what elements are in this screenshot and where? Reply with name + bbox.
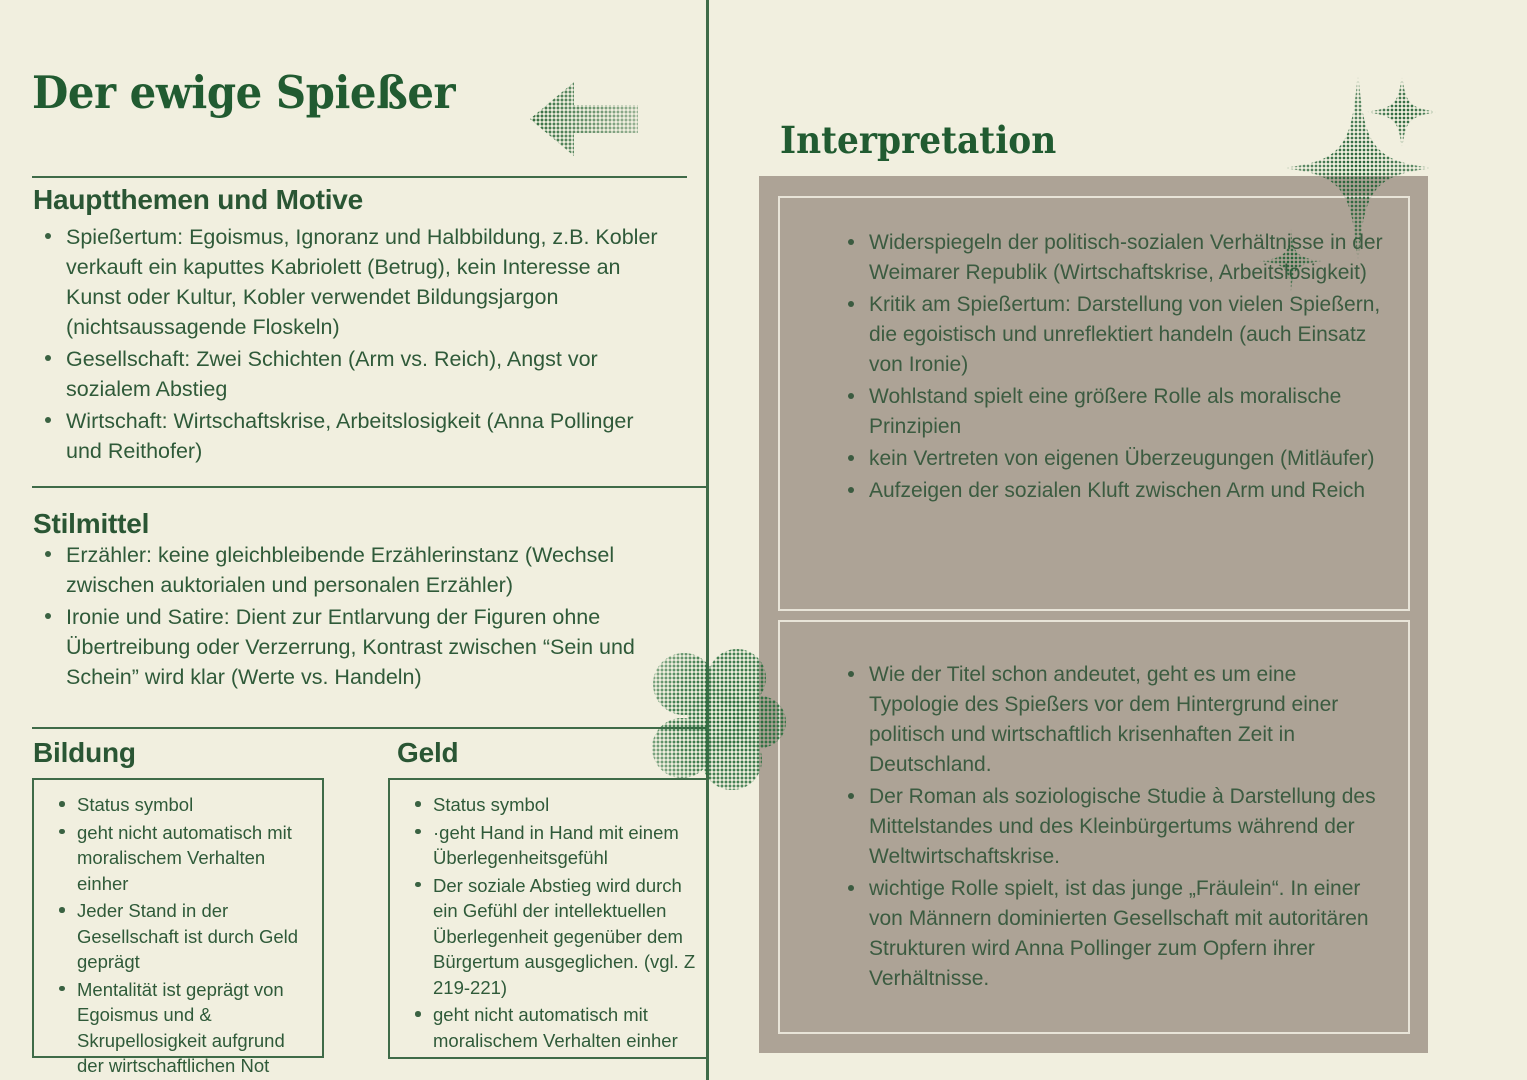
list-item: geht nicht automatisch mit moralischem V… (402, 1002, 700, 1053)
list-item-text: Wohlstand spielt eine größere Rolle als … (869, 385, 1341, 438)
list-item-text: Wie der Titel schon andeutet, geht es um… (869, 663, 1338, 776)
divider-bottom (32, 727, 708, 729)
list-item-text: Widerspiegeln der politisch-sozialen Ver… (869, 231, 1383, 284)
bildung-list: Status symbol geht nicht automatisch mit… (46, 792, 316, 1080)
list-item: Aufzeigen der sozialen Kluft zwischen Ar… (838, 476, 1386, 506)
list-item-text: Ironie und Satire: Dient zur Entlarvung … (66, 605, 635, 689)
interpretation-box-1: Widerspiegeln der politisch-sozialen Ver… (778, 196, 1410, 611)
left-column: Der ewige Spießer Hauptthemen und Motive… (0, 0, 709, 1080)
list-item-text: wichtige Rolle spielt, ist das junge „Fr… (869, 877, 1369, 990)
list-item: Spießertum: Egoismus, Ignoranz und Halbb… (33, 222, 663, 342)
list-item-text: Status symbol (77, 794, 193, 815)
list-item: Kritik am Spießertum: Darstellung von vi… (838, 290, 1386, 380)
list-item-text: Wirtschaft: Wirtschaftskrise, Arbeitslos… (66, 409, 634, 463)
list-item-text: Der soziale Abstieg wird durch ein Gefüh… (433, 875, 695, 998)
list-item-text: kein Vertreten von eigenen Überzeugungen… (869, 447, 1374, 470)
list-item-text: Kritik am Spießertum: Darstellung von vi… (869, 293, 1380, 376)
divider-top (32, 176, 687, 178)
page-title: Der ewige Spießer (32, 66, 455, 119)
list-item-text: Jeder Stand in der Gesellschaft ist durc… (77, 900, 298, 972)
list-item-text: Aufzeigen der sozialen Kluft zwischen Ar… (869, 479, 1365, 502)
list-item: Status symbol (46, 792, 316, 818)
list-item-text: Erzähler: keine gleichbleibende Erzähler… (66, 543, 614, 597)
list-item-text: Der Roman als soziologische Studie à Dar… (869, 785, 1376, 868)
interpretation-list-1: Widerspiegeln der politisch-sozialen Ver… (838, 228, 1386, 508)
list-item: Mentalität ist geprägt von Egoismus und … (46, 977, 316, 1079)
list-item: wichtige Rolle spielt, ist das junge „Fr… (838, 874, 1386, 994)
geld-box: Status symbol ·geht Hand in Hand mit ein… (388, 778, 708, 1059)
geld-list: Status symbol ·geht Hand in Hand mit ein… (402, 792, 700, 1055)
list-item: Der soziale Abstieg wird durch ein Gefüh… (402, 873, 700, 1001)
list-item: Status symbol (402, 792, 700, 818)
interpretation-box-2: Wie der Titel schon andeutet, geht es um… (778, 620, 1410, 1034)
list-item-text: Spießertum: Egoismus, Ignoranz und Halbb… (66, 225, 658, 339)
section-heading-hauptthemen: Hauptthemen und Motive (33, 184, 363, 216)
hauptthemen-list: Spießertum: Egoismus, Ignoranz und Halbb… (33, 222, 663, 468)
list-item-text: Gesellschaft: Zwei Schichten (Arm vs. Re… (66, 347, 598, 401)
list-item: Wie der Titel schon andeutet, geht es um… (838, 660, 1386, 780)
list-item-text: geht nicht automatisch mit moralischem V… (433, 1004, 678, 1051)
list-item-text: Status symbol (433, 794, 549, 815)
list-item: Wirtschaft: Wirtschaftskrise, Arbeitslos… (33, 406, 663, 466)
bildung-box: Status symbol geht nicht automatisch mit… (32, 778, 324, 1058)
stilmittel-list: Erzähler: keine gleichbleibende Erzähler… (33, 540, 673, 694)
list-item: Ironie und Satire: Dient zur Entlarvung … (33, 602, 673, 692)
section-heading-stilmittel: Stilmittel (33, 508, 149, 540)
divider-middle (32, 486, 708, 488)
section-heading-bildung: Bildung (33, 737, 136, 769)
list-item-text: Mentalität ist geprägt von Egoismus und … (77, 979, 285, 1077)
poster-page: Der ewige Spießer Hauptthemen und Motive… (0, 0, 1527, 1080)
list-item: geht nicht automatisch mit moralischem V… (46, 820, 316, 897)
list-item: kein Vertreten von eigenen Überzeugungen… (838, 444, 1386, 474)
list-item: Der Roman als soziologische Studie à Dar… (838, 782, 1386, 872)
list-item: Gesellschaft: Zwei Schichten (Arm vs. Re… (33, 344, 663, 404)
list-item: ·geht Hand in Hand mit einem Überlegenhe… (402, 820, 700, 871)
list-item: Erzähler: keine gleichbleibende Erzähler… (33, 540, 673, 600)
interpretation-list-2: Wie der Titel schon andeutet, geht es um… (838, 660, 1386, 996)
list-item-text: ·geht Hand in Hand mit einem Überlegenhe… (433, 822, 679, 869)
section-heading-geld: Geld (397, 737, 458, 769)
list-item-text: geht nicht automatisch mit moralischem V… (77, 822, 292, 894)
halftone-sparkle-small-icon (1362, 72, 1442, 152)
list-item: Jeder Stand in der Gesellschaft ist durc… (46, 898, 316, 975)
interpretation-title: Interpretation (780, 118, 1056, 162)
list-item: Widerspiegeln der politisch-sozialen Ver… (838, 228, 1386, 288)
list-item: Wohlstand spielt eine größere Rolle als … (838, 382, 1386, 442)
